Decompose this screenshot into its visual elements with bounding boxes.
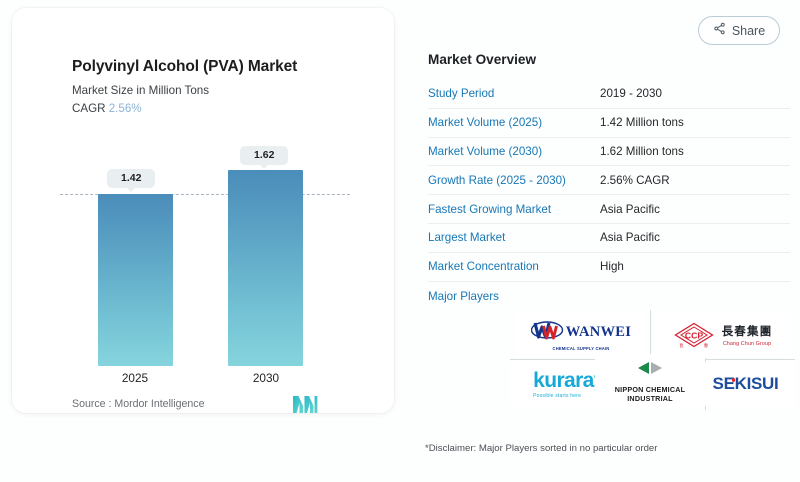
bar-value-label-2025: 1.42 — [107, 169, 155, 188]
major-players-row: Major Players — [428, 282, 790, 312]
row-value: Asia Pacific — [600, 231, 660, 244]
nippon-name: NIPPON CHEMICAL INDUSTRIAL — [615, 385, 686, 403]
major-players-label: Major Players — [428, 290, 600, 303]
logo-sekisui: SEKISUI — [696, 362, 795, 406]
nippon-triangles-icon — [635, 361, 665, 380]
share-nodes-icon — [713, 22, 726, 40]
wanwei-name: WANWEI — [566, 325, 631, 340]
kuraray-tagline: Possible starts here — [533, 394, 581, 399]
major-players-logo-grid: WANWEI CHEMICAL SUPPLY CHAIN CCP 長 春 — [510, 310, 795, 406]
market-overview-title: Market Overview — [428, 52, 536, 67]
table-row: Market Volume (2030) 1.62 Million tons — [428, 138, 790, 167]
row-label: Market Volume (2025) — [428, 116, 600, 129]
table-row: Market Concentration High — [428, 253, 790, 282]
mordor-intelligence-logo — [292, 394, 318, 419]
row-label: Largest Market — [428, 231, 600, 244]
share-button[interactable]: Share — [698, 16, 780, 45]
chart-card: Polyvinyl Alcohol (PVA) Market Market Si… — [12, 8, 394, 413]
row-label: Growth Rate (2025 - 2030) — [428, 174, 600, 187]
row-label: Study Period — [428, 87, 600, 100]
x-axis-tick-2025: 2025 — [92, 371, 178, 385]
source-text: Source : Mordor Intelligence — [72, 398, 205, 410]
ccp-diamond-icon: CCP 長 春 — [674, 322, 714, 348]
svg-text:CCP: CCP — [685, 331, 703, 341]
row-value: High — [600, 260, 624, 273]
logo-chang-chun-group: CCP 長 春 長春集團 Chang Chun Group — [655, 312, 791, 358]
bar-chart-plot: 1.42 1.62 2025 2030 — [12, 8, 394, 413]
disclaimer-text: *Disclaimer: Major Players sorted in no … — [425, 443, 657, 454]
wanwei-tagline: CHEMICAL SUPPLY CHAIN — [553, 347, 610, 351]
row-label: Market Concentration — [428, 260, 600, 273]
sekisui-red-dot-icon — [732, 378, 736, 382]
svg-text:春: 春 — [703, 342, 708, 348]
row-value: 1.62 Million tons — [600, 145, 684, 158]
table-row: Growth Rate (2025 - 2030) 2.56% CAGR — [428, 166, 790, 195]
table-row: Market Volume (2025) 1.42 Million tons — [428, 109, 790, 138]
nippon-name-line2: INDUSTRIAL — [615, 394, 686, 403]
row-value: 1.42 Million tons — [600, 116, 684, 129]
sekisui-name: SEKISUI — [713, 374, 779, 394]
table-row: Largest Market Asia Pacific — [428, 224, 790, 253]
chang-chun-chinese-name: 長春集團 — [722, 323, 773, 339]
report-snapshot-page: Polyvinyl Alcohol (PVA) Market Market Si… — [0, 0, 800, 482]
grid-divider-vertical-top — [650, 310, 651, 359]
svg-text:長: 長 — [679, 343, 684, 348]
market-overview-panel: Share Market Overview Study Period 2019 … — [420, 0, 800, 482]
logo-nippon-chemical-industrial: NIPPON CHEMICAL INDUSTRIAL — [595, 354, 705, 410]
x-axis-tick-2030: 2030 — [223, 371, 309, 385]
row-value: 2019 - 2030 — [600, 87, 662, 100]
market-overview-table: Study Period 2019 - 2030 Market Volume (… — [428, 80, 790, 312]
share-button-label: Share — [732, 24, 765, 38]
logo-wanwei: WANWEI CHEMICAL SUPPLY CHAIN — [516, 312, 646, 358]
nippon-name-line1: NIPPON CHEMICAL — [615, 385, 686, 394]
row-value: 2.56% CAGR — [600, 174, 670, 187]
row-label: Market Volume (2030) — [428, 145, 600, 158]
bar-2030[interactable] — [228, 170, 303, 366]
row-value: Asia Pacific — [600, 203, 660, 216]
wanwei-mark-icon — [531, 319, 564, 345]
bar-2025[interactable] — [98, 194, 173, 366]
table-row: Fastest Growing Market Asia Pacific — [428, 195, 790, 224]
bar-value-label-2030: 1.62 — [240, 146, 288, 165]
chang-chun-english-name: Chang Chun Group — [723, 341, 771, 347]
table-row: Study Period 2019 - 2030 — [428, 80, 790, 109]
row-label: Fastest Growing Market — [428, 203, 600, 216]
sekisui-name-text: SEKISUI — [713, 374, 779, 393]
